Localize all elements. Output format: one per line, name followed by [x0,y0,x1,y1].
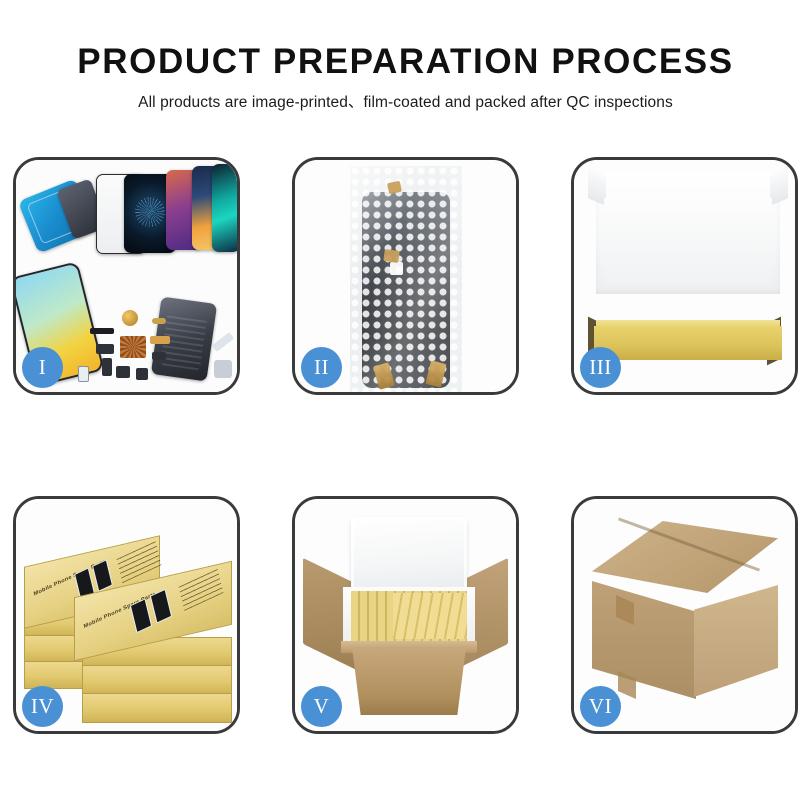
process-step-panel-1[interactable]: I [13,157,240,395]
connector-board [120,336,146,358]
plastic-sheen [350,166,462,392]
process-step-panel-4[interactable]: Mobile Phone Spare Parts Mobile Phone Sp… [13,496,240,734]
carton-top-face [592,521,778,593]
foam-liner [604,198,772,284]
component-chip [152,318,166,324]
process-step-panel-3[interactable]: III [571,157,798,395]
page-title: PRODUCT PREPARATION PROCESS [0,44,811,81]
teal-gradient-phone [212,164,237,252]
process-step-panel-6[interactable]: VI [571,496,798,734]
step-badge-3: III [580,347,621,388]
page-header: PRODUCT PREPARATION PROCESS All products… [0,0,811,112]
gold-box-front [594,326,782,360]
component-chip [90,328,114,334]
process-step-panel-2[interactable]: II [292,157,519,395]
speaker-component [122,310,138,326]
component-chip [78,366,89,382]
component-chip [102,358,112,376]
step-badge-1: I [22,347,63,388]
gold-boxes-inside [393,593,467,639]
component-chip [136,368,148,380]
component-chip [150,336,170,344]
component-chip [152,352,166,360]
tape-strip [383,249,400,263]
foam-box-lid [351,517,467,597]
step-badge-6: VI [580,686,621,727]
carton-front-face [592,581,696,699]
page-subtitle: All products are image-printed、film-coat… [0,90,811,112]
stacked-box [82,665,232,695]
stacked-box [82,693,232,723]
bubble-wrap-sleeve [350,166,462,392]
step-badge-4: IV [22,686,63,727]
step-badge-2: II [301,347,342,388]
component-chip [116,366,130,378]
process-step-grid: I II III [13,157,799,734]
carton-front [347,647,471,715]
component-chip [214,360,232,378]
carton-side-face [694,585,778,697]
component-chip [96,344,114,354]
step-badge-5: V [301,686,342,727]
process-step-panel-5[interactable]: V [292,496,519,734]
